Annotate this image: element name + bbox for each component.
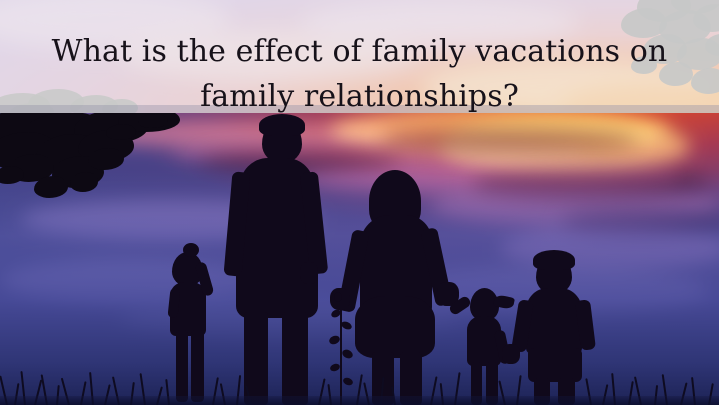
hair-bun bbox=[183, 243, 199, 257]
hair bbox=[533, 250, 575, 270]
cloud-shadow-1 bbox=[380, 128, 640, 154]
hand-joined bbox=[502, 344, 520, 364]
page-title: What is the effect of family vacations o… bbox=[0, 29, 719, 113]
page-title-line-2: family relationships? bbox=[14, 74, 705, 113]
title-banner: What is the effect of family vacations o… bbox=[0, 0, 719, 113]
shorts bbox=[528, 348, 582, 382]
tree-silhouette-left bbox=[0, 108, 188, 216]
screenshot-canvas: What is the effect of family vacations o… bbox=[0, 0, 719, 405]
hand-right bbox=[300, 262, 318, 284]
page-title-line-1: What is the effect of family vacations o… bbox=[52, 34, 668, 69]
hair bbox=[259, 114, 305, 136]
